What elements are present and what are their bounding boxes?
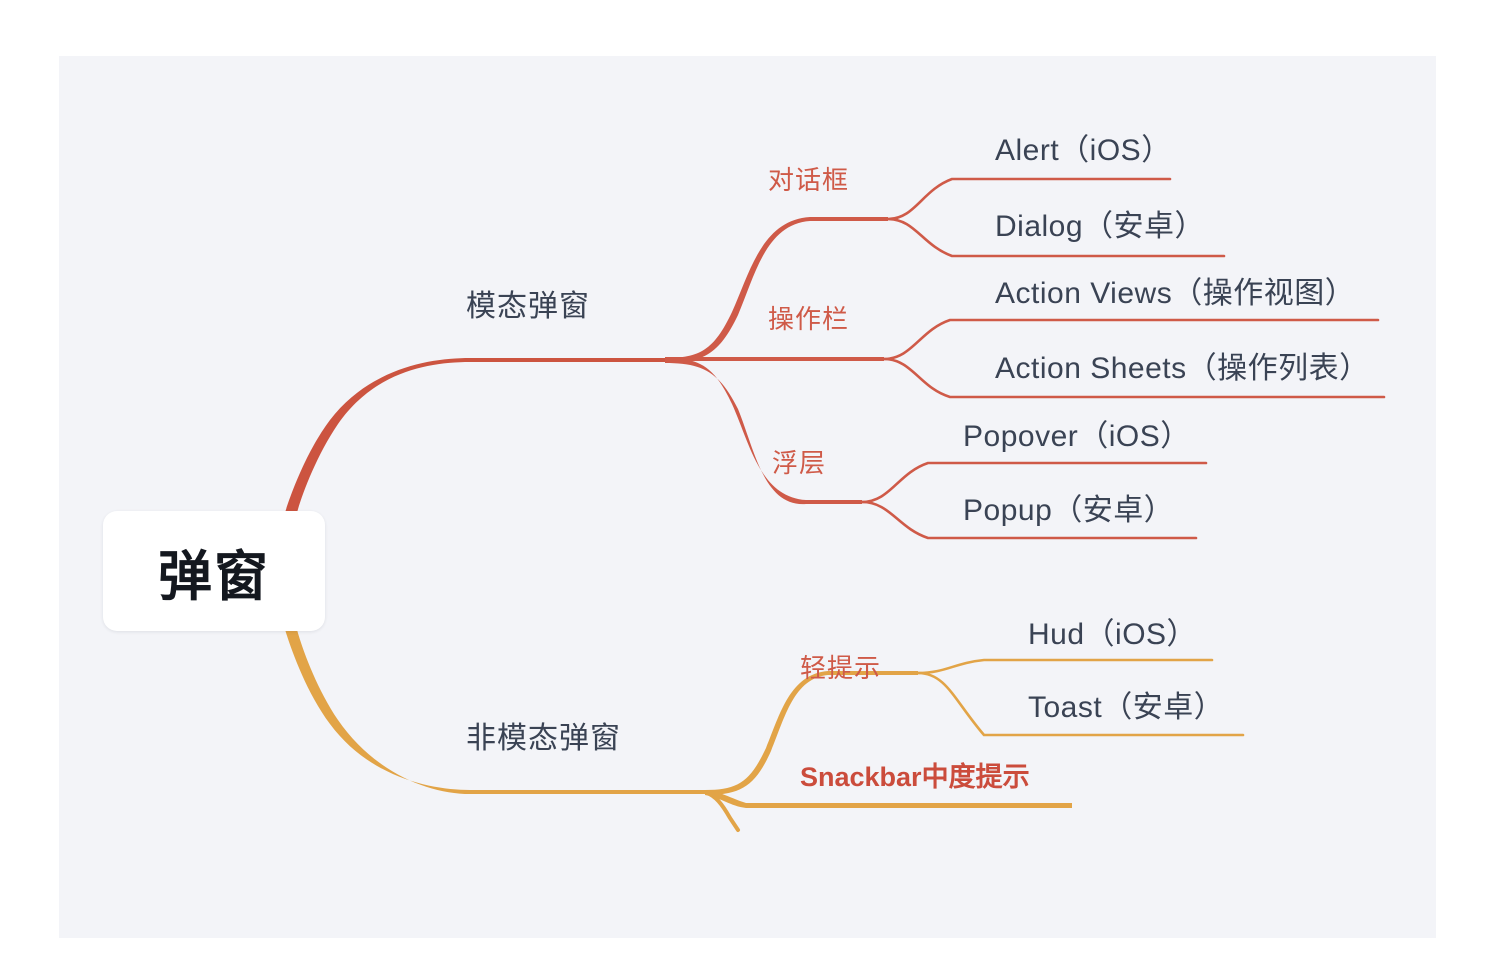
branch-label-light-tip[interactable]: 轻提示 [800,655,881,681]
branch-label-snackbar[interactable]: Snackbar中度提示 [800,764,1030,791]
branch-label-nonmodal[interactable]: 非模态弹窗 [466,724,621,754]
leaf-toast-android[interactable]: Toast（安卓） [1028,693,1224,723]
branch-label-modal[interactable]: 模态弹窗 [466,292,590,322]
leaf-popup-android[interactable]: Popup（安卓） [963,496,1174,526]
root-node[interactable]: 弹窗 [103,511,325,631]
branch-label-actionbar[interactable]: 操作栏 [768,306,849,332]
leaf-popover-ios[interactable]: Popover（iOS） [963,422,1191,452]
leaf-alert-ios[interactable]: Alert（iOS） [995,136,1172,166]
leaf-action-views[interactable]: Action Views（操作视图） [995,279,1355,309]
root-node-label: 弹窗 [158,532,270,611]
mindmap-canvas [59,56,1436,938]
leaf-dialog-android[interactable]: Dialog（安卓） [995,212,1205,242]
branch-label-dialogbox[interactable]: 对话框 [768,167,849,193]
leaf-action-sheets[interactable]: Action Sheets（操作列表） [995,354,1370,384]
branch-label-overlay[interactable]: 浮层 [772,450,826,476]
leaf-hud-ios[interactable]: Hud（iOS） [1028,620,1197,650]
mindmap-page: 弹窗 模态弹窗 非模态弹窗 对话框 操作栏 浮层 轻提示 Snackbar中度提… [0,0,1508,972]
